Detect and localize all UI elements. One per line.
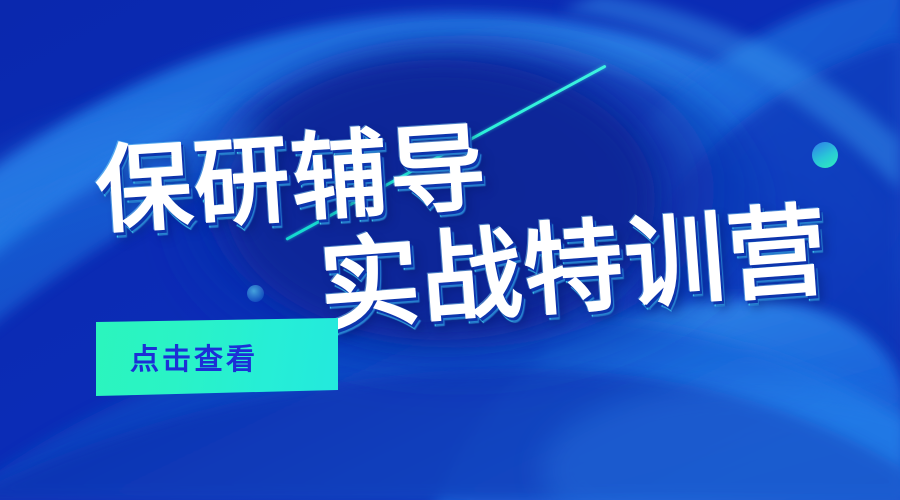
decorative-dot-small [247,285,264,302]
background-artwork [0,0,900,500]
cta-button-label: 点击查看 [130,336,258,378]
promo-banner: 保研辅导 实战特训营 点击查看 [0,0,900,500]
cta-button[interactable]: 点击查看 [96,318,338,396]
decorative-dot-large [812,142,838,168]
